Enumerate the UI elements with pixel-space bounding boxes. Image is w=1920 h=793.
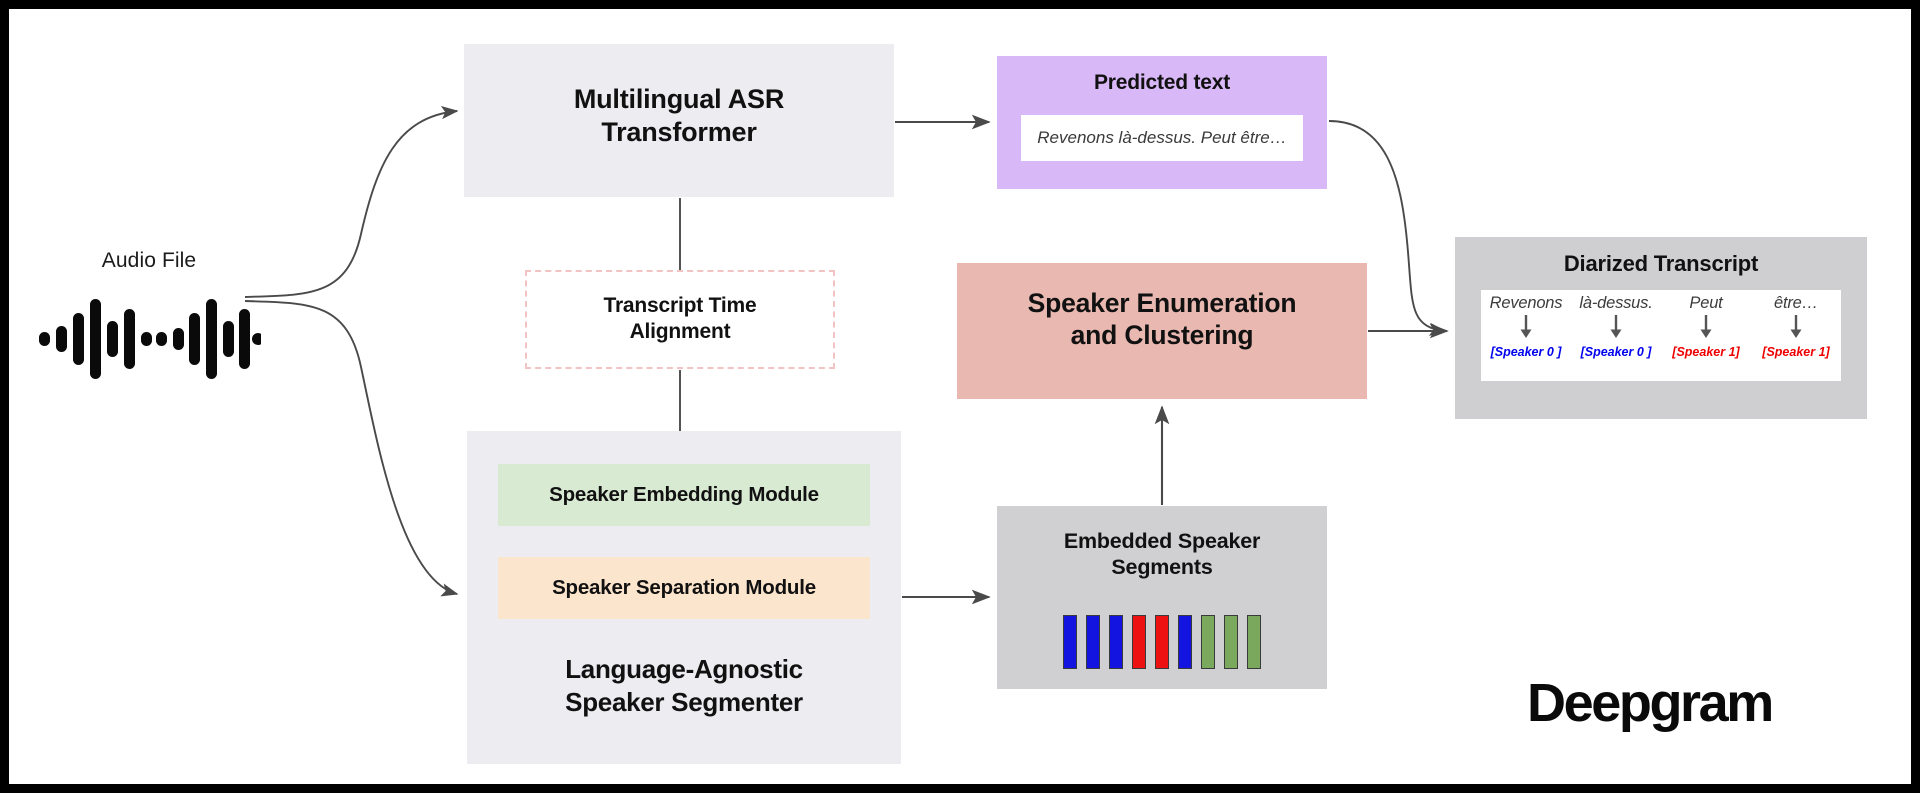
diarized-word: là-dessus.	[1571, 294, 1661, 313]
diarized-transcript-title: Diarized Transcript	[1455, 237, 1867, 278]
speaker-segment-bar	[1201, 615, 1215, 669]
segmenter-title: Language-Agnostic Speaker Segmenter	[467, 653, 901, 720]
speaker-segment-bar	[1155, 615, 1169, 669]
module-speaker-separation-label: Speaker Separation Module	[498, 557, 870, 619]
module-speaker-embedding-label: Speaker Embedding Module	[498, 464, 870, 526]
module-speaker-separation: Speaker Separation Module	[498, 557, 870, 619]
diarized-speaker-label: [Speaker 1]	[1751, 345, 1841, 359]
diarized-speaker-label: [Speaker 0 ]	[1481, 345, 1571, 359]
node-transcript-time-alignment: Transcript Time Alignment	[525, 270, 835, 369]
diarized-word: Peut	[1661, 294, 1751, 313]
diarized-transcript-field: Revenons[Speaker 0 ]là-dessus.[Speaker 0…	[1481, 290, 1841, 381]
down-arrow-icon	[1786, 314, 1806, 340]
predicted-text-field: Revenons là-dessus. Peut être…	[1021, 115, 1303, 161]
predicted-text-title: Predicted text	[997, 56, 1327, 96]
node-language-agnostic-speaker-segmenter: Speaker Embedding Module Speaker Separat…	[467, 431, 901, 764]
speaker-segment-bars	[997, 611, 1327, 673]
speaker-segment-bar	[1224, 615, 1238, 669]
diarized-entry: Peut[Speaker 1]	[1661, 294, 1751, 359]
connector-audio-to-asr	[245, 111, 457, 297]
speaker-segment-bar	[1132, 615, 1146, 669]
diarized-speaker-label: [Speaker 1]	[1661, 345, 1751, 359]
diarized-entry: Revenons[Speaker 0 ]	[1481, 294, 1571, 359]
diarized-entry: être…[Speaker 1]	[1751, 294, 1841, 359]
deepgram-logo: Deepgram	[1527, 673, 1827, 735]
diarized-entry: là-dessus.[Speaker 0 ]	[1571, 294, 1661, 359]
module-speaker-embedding: Speaker Embedding Module	[498, 464, 870, 526]
predicted-text-value: Revenons là-dessus. Peut être…	[1037, 128, 1286, 148]
down-arrow-icon	[1696, 314, 1716, 340]
enumeration-title: Speaker Enumeration and Clustering	[957, 263, 1367, 352]
node-embedded-speaker-segments: Embedded Speaker Segments	[997, 506, 1327, 689]
speaker-segment-bar	[1109, 615, 1123, 669]
audio-file-group: Audio File	[29, 249, 269, 389]
diagram-canvas: Audio File Multilingual ASR	[9, 9, 1911, 784]
speaker-segment-bar	[1247, 615, 1261, 669]
speaker-segment-bar	[1063, 615, 1077, 669]
time-alignment-title: Transcript Time Alignment	[527, 272, 833, 344]
segments-title: Embedded Speaker Segments	[997, 506, 1327, 580]
diarized-word: être…	[1751, 294, 1841, 313]
diarized-speaker-label: [Speaker 0 ]	[1571, 345, 1661, 359]
deepgram-wordmark: Deepgram	[1527, 673, 1772, 733]
audio-file-label: Audio File	[29, 249, 269, 273]
speaker-segment-bar	[1086, 615, 1100, 669]
diarized-word: Revenons	[1481, 294, 1571, 313]
connector-audio-to-segmenter	[245, 301, 457, 594]
node-multilingual-asr-transformer: Multilingual ASR Transformer	[464, 44, 894, 197]
node-diarized-transcript: Diarized Transcript Revenons[Speaker 0 ]…	[1455, 237, 1867, 419]
down-arrow-icon	[1606, 314, 1626, 340]
node-predicted-text: Predicted text Revenons là-dessus. Peut …	[997, 56, 1327, 189]
node-speaker-enumeration-and-clustering: Speaker Enumeration and Clustering	[957, 263, 1367, 399]
down-arrow-icon	[1516, 314, 1536, 340]
speaker-segment-bar	[1178, 615, 1192, 669]
audio-waveform-icon	[37, 291, 261, 387]
asr-title: Multilingual ASR Transformer	[464, 44, 894, 149]
